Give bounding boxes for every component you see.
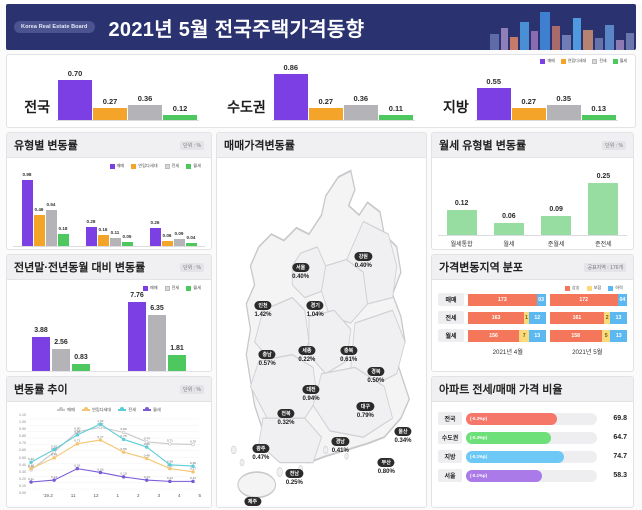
- panel-title: 가격변동지역 분포: [439, 259, 523, 275]
- map-label-jeonbuk[interactable]: 전북 0.32%: [277, 402, 294, 426]
- y-tick: 0.50: [19, 456, 26, 460]
- bar-value: 0.05: [123, 234, 132, 239]
- map-label-ulsan[interactable]: 울산 0.34%: [394, 420, 411, 444]
- line-chart: 1.10 1.00 0.90 0.80 0.70 0.60 0.50 0.40 …: [13, 415, 205, 508]
- panel-title: 매매가격변동률: [224, 137, 295, 153]
- legend-marker-jeonse: [118, 409, 126, 411]
- panel-body: 상승 보합 하락 매매 173 03: [432, 280, 633, 371]
- summary-group-metro: 수도권 0.86 0.27 0.36 0.11: [216, 63, 425, 127]
- legend-swatch-flat: [587, 286, 592, 291]
- row-label: 지방: [438, 450, 462, 463]
- bar-value: 0.13: [591, 104, 606, 113]
- map-label-busan[interactable]: 부산 0.80%: [378, 451, 395, 475]
- summary-group-local: 지방 0.55 0.27 0.35 0.13: [426, 63, 635, 127]
- legend-label: 하락: [615, 285, 623, 291]
- panel-yoy: 전년말·전년동월 대비 변동률 단위 : % 매매 전세 월세: [6, 254, 212, 372]
- segment-fall: 03: [537, 294, 546, 306]
- bar-value: 0.35: [556, 94, 571, 103]
- legend-item: 연립다세대: [131, 163, 157, 169]
- x-tick: 12: [93, 493, 98, 498]
- table-row: 전국 (-0.3%p) 69.8: [438, 412, 627, 425]
- panel-price-map: 매매가격변동률: [216, 132, 427, 508]
- bar-value: 0.55: [486, 77, 501, 86]
- svg-text:0.62: 0.62: [51, 444, 57, 448]
- svg-text:0.38: 0.38: [167, 460, 173, 464]
- panel-distribution: 가격변동지역 분포 공표지역 : 176개 상승 보합 하락: [431, 254, 634, 372]
- map-label-gangwon[interactable]: 강원 0.40%: [355, 245, 372, 269]
- region-name: 전북: [277, 409, 294, 418]
- legend-swatch-jeonse: [165, 164, 170, 169]
- y-tick: 1.10: [19, 413, 26, 417]
- bar: 7.76: [128, 302, 146, 372]
- legend-label: 월세: [620, 58, 627, 64]
- dashboard-header: Korea Real Estate Board 2021년 5월 전국주택가격동…: [6, 4, 636, 50]
- panel-body: 매매 전세 월세 3.88 2.56: [7, 280, 211, 372]
- svg-text:0.48: 0.48: [144, 453, 150, 457]
- row-label: 전세: [438, 311, 464, 324]
- region-name: 인천: [254, 301, 271, 310]
- legend-label: 보합: [594, 285, 602, 291]
- region-value: 0.79%: [357, 413, 374, 419]
- left-column: 유형별 변동률 단위 : % 매매 연립다세대 전세: [6, 132, 212, 508]
- row-label: 서울: [438, 469, 462, 482]
- summary-bar: 0.86: [274, 74, 308, 120]
- x-axis-ticks: '19.2 11 12 1 2 3 4 5: [27, 493, 205, 498]
- row-label: 수도권: [438, 431, 462, 444]
- svg-text:0.71: 0.71: [74, 439, 80, 443]
- legend-item: 하락: [608, 285, 623, 291]
- panel-ratio: 아파트 전세/매매 가격 비율 전국 (-0.3%p) 69.8 수도권: [431, 376, 634, 508]
- legend-label: 매매: [117, 163, 125, 169]
- legend-item: 상승: [565, 285, 580, 291]
- map-label-gyeongbuk[interactable]: 경북 0.50%: [367, 360, 384, 384]
- svg-text:0.70: 0.70: [190, 439, 196, 443]
- segment-rise: 161: [550, 312, 605, 324]
- legend-marker-wolse: [143, 409, 151, 411]
- summary-group-label: 지방: [443, 97, 469, 121]
- legend-item: 월세: [186, 163, 201, 169]
- ratio-value: 58.3: [601, 472, 627, 479]
- svg-text:0.78: 0.78: [121, 434, 127, 438]
- legend-item: 매매: [110, 163, 125, 169]
- ratio-fill: (-0.1%p): [466, 470, 542, 482]
- bar-value: 0.16: [99, 227, 108, 232]
- skyline-graphic: [486, 4, 636, 50]
- ratio-fill: (-0.3%p): [466, 413, 557, 425]
- legend-label: 전세: [128, 407, 136, 413]
- legend-swatch-yeonrip: [561, 59, 566, 64]
- legend-swatch-yeonrip: [131, 164, 136, 169]
- panel-title: 전년말·전년동월 대비 변동률: [14, 259, 145, 275]
- legend-swatch-rise: [565, 286, 570, 291]
- dashboard-body: 유형별 변동률 단위 : % 매매 연립다세대 전세: [6, 132, 636, 508]
- svg-text:0.32: 0.32: [28, 463, 34, 467]
- legend-label: 전세: [599, 58, 606, 64]
- summary-group-label: 수도권: [227, 97, 266, 121]
- y-tick: 0.60: [19, 448, 26, 452]
- summary-bar: 0.27: [512, 108, 546, 120]
- category-label: 아파트: [35, 249, 52, 250]
- region-value: 0.40%: [355, 263, 372, 269]
- bar: 0.11: [110, 238, 121, 246]
- segment-rise: 172: [550, 294, 618, 306]
- table-row: 수도권 (-0.4%p) 64.7: [438, 431, 627, 444]
- legend-item: 월세: [143, 407, 161, 413]
- bar: 0.09: [174, 239, 185, 246]
- legend-swatch-maemae: [110, 164, 115, 169]
- ratio-delta: (-0.4%p): [470, 435, 487, 440]
- panel-unit: 단위 : %: [602, 141, 626, 150]
- region-value: 1.42%: [254, 312, 271, 318]
- panel-header: 아파트 전세/매매 가격 비율: [432, 377, 633, 402]
- svg-text:0.12: 0.12: [190, 476, 196, 480]
- region-name: 울산: [394, 427, 411, 436]
- period-labels: 2021년 4월 2021년 5월: [438, 347, 627, 356]
- bar-value: 0.70: [68, 69, 83, 78]
- svg-text:0.32: 0.32: [74, 463, 80, 467]
- ratio-fill: (-0.4%p): [466, 432, 551, 444]
- summary-bar: 0.36: [344, 105, 378, 120]
- ratio-track: (-0.1%p): [466, 470, 597, 482]
- bar-value: 0.11: [389, 104, 403, 113]
- svg-text:0.71: 0.71: [167, 439, 173, 443]
- legend-label: 연립다세대: [568, 58, 586, 64]
- table-row: 매매 173 03 172 04: [438, 293, 627, 306]
- table-row: 월세 156 7 13 158 5 13: [438, 329, 627, 342]
- category-label: 월세: [486, 239, 532, 248]
- segment-fall: 04: [618, 294, 627, 306]
- bar-value: 0.27: [521, 97, 536, 106]
- stacked-bar-may: 161 2 13: [550, 312, 628, 324]
- legend-item: 전세: [165, 163, 180, 169]
- x-tick: '19.2: [43, 493, 53, 498]
- category-labels: 월세통합 월세 준월세 준전세: [438, 239, 627, 248]
- region-name: 경남: [332, 437, 349, 446]
- summary-bars: 0.86 0.27 0.36 0.11: [272, 75, 415, 121]
- category-label: 준월세: [533, 239, 579, 248]
- bar-set: 0.98 0.46 0.54 0.18: [22, 172, 69, 246]
- region-name: 충북: [340, 346, 357, 355]
- stacked-bar-apr: 156 7 13: [468, 330, 546, 342]
- segment-rise: 173: [468, 294, 537, 306]
- stacked-bar-apr: 163 1 12: [468, 312, 546, 324]
- legend-item: 연립다세대: [82, 407, 111, 413]
- legend-swatch-wolse: [186, 164, 191, 169]
- bar-value: 0.86: [284, 63, 299, 72]
- y-tick: 0.10: [19, 484, 26, 488]
- bar: 0.26: [150, 228, 161, 246]
- bar: 3.88: [32, 337, 50, 372]
- table-row: 지방 (-0.1%p) 74.7: [438, 450, 627, 463]
- y-tick: 0.70: [19, 441, 26, 445]
- summary-bar: 0.13: [582, 115, 616, 120]
- panel-body: 매매 연립다세대 전세 월세: [7, 158, 211, 250]
- panel-wolse-type: 월세 유형별 변동률 단위 : % 0.12 0.06 0.09 0.25: [431, 132, 634, 250]
- region-name: 광주: [252, 444, 269, 453]
- summary-bars: 0.55 0.27 0.35 0.13: [475, 75, 618, 121]
- legend-label: 연립다세대: [138, 163, 157, 169]
- x-tick: 2: [137, 493, 140, 498]
- ratio-track: (-0.3%p): [466, 413, 597, 425]
- bar-value: 0.26: [151, 220, 160, 225]
- bar-value: 0.27: [319, 97, 334, 106]
- bar-group-year-end: 3.88 2.56 0.83: [32, 337, 90, 372]
- ratio-delta: (-0.1%p): [470, 454, 487, 459]
- bar: 0.18: [58, 234, 69, 246]
- y-tick: 0.90: [19, 427, 26, 431]
- region-value: 0.61%: [340, 357, 357, 363]
- legend-label: 월세: [193, 285, 201, 291]
- panel-title: 월세 유형별 변동률: [439, 137, 526, 153]
- middle-column: 매매가격변동률: [216, 132, 427, 508]
- svg-text:0.19: 0.19: [121, 472, 127, 476]
- region-name: 경북: [367, 367, 384, 376]
- svg-text:0.14: 0.14: [144, 475, 150, 479]
- bar-value: 0.46: [35, 207, 44, 212]
- bar-group-apartment: 0.98 0.46 0.54 0.18: [22, 172, 69, 246]
- segment-fall: 13: [529, 330, 545, 342]
- panel-header: 전년말·전년동월 대비 변동률 단위 : %: [7, 255, 211, 280]
- map-label-chungbuk[interactable]: 충북 0.61%: [340, 339, 357, 363]
- bar: 6.35: [148, 315, 166, 372]
- legend-item: 전세: [592, 58, 606, 64]
- panel-header: 변동률 추이 단위 : %: [7, 377, 211, 402]
- bar: 0.05: [122, 242, 133, 246]
- bar: 0.98: [22, 180, 33, 246]
- x-tick: 5: [198, 493, 201, 498]
- summary-bar: 0.35: [547, 105, 581, 120]
- summary-bar: 0.55: [477, 88, 511, 120]
- summary-bar: 0.11: [379, 115, 413, 120]
- map-label-jeju[interactable]: 제주 0.59%: [244, 490, 261, 508]
- svg-text:0.26: 0.26: [97, 467, 103, 471]
- y-axis-ticks: 1.10 1.00 0.90 0.80 0.70 0.60 0.50 0.40 …: [13, 415, 27, 493]
- legend-label: 전세: [172, 163, 180, 169]
- bar-value: 0.25: [597, 173, 611, 180]
- legend-swatch-wolse: [613, 59, 618, 64]
- map-label-daegu[interactable]: 대구 0.79%: [357, 395, 374, 419]
- bar: 0.04: [186, 243, 197, 246]
- category-labels: 아파트 연립주택 단독주택: [13, 249, 205, 250]
- map-label-gwangju[interactable]: 광주 0.47%: [252, 437, 269, 461]
- bar-value: 1.81: [170, 345, 184, 352]
- chart-legend: 매매 전세 월세: [13, 285, 205, 291]
- category-label: 연립주택: [95, 249, 117, 250]
- legend-swatch-jeonse: [165, 286, 170, 291]
- region-value: 0.40%: [292, 274, 309, 280]
- ratio-value: 64.7: [601, 434, 627, 441]
- map-label-incheon[interactable]: 인천 1.42%: [254, 294, 271, 318]
- bar-value: 0.12: [455, 200, 469, 207]
- bar-value: 0.54: [47, 202, 56, 207]
- map-label-jeonnam[interactable]: 전남 0.25%: [286, 462, 303, 486]
- category-label: 단독주택: [161, 249, 183, 250]
- bar-value: 0.09: [549, 206, 563, 213]
- map-label-seoul[interactable]: 서울 0.40%: [292, 256, 309, 280]
- legend-label: 월세: [153, 407, 161, 413]
- y-tick: 0.30: [19, 470, 26, 474]
- ratio-track: (-0.4%p): [466, 432, 597, 444]
- bar-value: 7.76: [130, 292, 144, 299]
- segment-rise: 156: [468, 330, 519, 342]
- yoy-bar-chart: 3.88 2.56 0.83 7.76 6.35: [13, 297, 205, 372]
- panel-body: 전국 (-0.3%p) 69.8 수도권 (-0.4%p): [432, 402, 633, 507]
- legend-swatch-jeonse: [592, 59, 597, 64]
- bar: 0.06: [494, 223, 524, 235]
- bar: 2.56: [52, 349, 70, 372]
- map-label-chungnam[interactable]: 충남 0.57%: [259, 343, 276, 367]
- panel-trend: 변동률 추이 단위 : % 매매 연립다세대 전세: [6, 376, 212, 508]
- org-badge: Korea Real Estate Board: [14, 21, 95, 33]
- map-label-sejong[interactable]: 세종 0.22%: [298, 339, 315, 363]
- legend-item: 전세: [165, 285, 180, 291]
- segment-fall: 13: [610, 312, 627, 324]
- y-tick: 0.40: [19, 463, 26, 467]
- legend-item: 매매: [143, 285, 158, 291]
- panel-title: 아파트 전세/매매 가격 비율: [439, 381, 563, 397]
- chart-legend: 상승 보합 하락: [438, 285, 627, 291]
- summary-bar: 0.12: [163, 115, 197, 120]
- legend-item: 전세: [118, 407, 136, 413]
- legend-swatch-maemae: [143, 286, 148, 291]
- panel-title: 유형별 변동률: [14, 137, 78, 153]
- panel-header: 월세 유형별 변동률 단위 : %: [432, 133, 633, 158]
- legend-label: 매매: [150, 285, 158, 291]
- bar: 0.83: [72, 364, 90, 372]
- legend-label: 매매: [67, 407, 75, 413]
- summary-group-nationwide: 전국 0.70 0.27 0.36 0.12: [7, 63, 216, 127]
- ratio-fill: (-0.1%p): [466, 451, 564, 463]
- legend-label: 월세: [193, 163, 201, 169]
- bar-value: 0.12: [173, 104, 188, 113]
- bar-value: 0.36: [138, 94, 153, 103]
- trend-plot: 0.300.580.900.970.890.740.710.700.320.49…: [27, 415, 199, 493]
- bar-value: 2.56: [54, 339, 68, 346]
- panel-header: 유형별 변동률 단위 : %: [7, 133, 211, 158]
- panel-header: 매매가격변동률: [217, 133, 426, 158]
- region-name: 서울: [292, 263, 309, 272]
- svg-text:0.58: 0.58: [121, 447, 127, 451]
- panel-type-change: 유형별 변동률 단위 : % 매매 연립다세대 전세: [6, 132, 212, 250]
- bar: 0.54: [46, 210, 57, 246]
- map-label-gyeongnam[interactable]: 경남 0.41%: [332, 430, 349, 454]
- panel-unit: 공표지역 : 176개: [584, 263, 626, 272]
- y-tick: 0.80: [19, 434, 26, 438]
- panel-body: 서울 0.40% 강원 0.40% 인천 1.42% 경기 1.04%: [217, 158, 426, 507]
- panel-header: 가격변동지역 분포 공표지역 : 176개: [432, 255, 633, 280]
- ratio-value: 74.7: [601, 453, 627, 460]
- bar-value: 0.18: [59, 226, 68, 231]
- summary-bar: 0.36: [128, 105, 162, 120]
- bar-group-year-same-month: 7.76 6.35 1.81: [128, 302, 186, 372]
- period-label: 2021년 5월: [548, 347, 628, 356]
- legend-marker-maemae: [57, 409, 65, 411]
- right-column: 월세 유형별 변동률 단위 : % 0.12 0.06 0.09 0.25: [431, 132, 634, 508]
- summary-bar: 0.70: [58, 80, 92, 120]
- bar: 0.16: [98, 235, 109, 246]
- svg-text:0.42: 0.42: [28, 457, 34, 461]
- category-label: 월세통합: [439, 239, 485, 248]
- period-label: 2021년 4월: [468, 347, 548, 356]
- row-label: 전국: [438, 412, 462, 425]
- bar: 0.09: [541, 216, 571, 235]
- segment-rise: 163: [468, 312, 524, 324]
- panel-body: 0.12 0.06 0.09 0.25 월세통합 월세 준월세 준전세: [432, 158, 633, 250]
- distribution-rows: 매매 173 03 172 04 전세: [438, 293, 627, 342]
- region-name: 대구: [357, 402, 374, 411]
- summary-legend: 매매 연립다세대 전세 월세: [540, 58, 627, 64]
- bar: 0.46: [34, 215, 45, 246]
- summary-group-label: 전국: [24, 97, 50, 121]
- svg-text:0.89: 0.89: [121, 427, 127, 431]
- region-name: 전남: [286, 469, 303, 478]
- segment-fall: 13: [610, 330, 627, 342]
- legend-swatch-wolse: [186, 286, 191, 291]
- segment-flat: 5: [602, 330, 611, 342]
- segment-rise: 158: [550, 330, 602, 342]
- region-value: 0.57%: [259, 361, 276, 367]
- region-name: 제주: [244, 497, 261, 506]
- bar-value: 0.11: [111, 230, 120, 235]
- ratio-delta: (-0.3%p): [470, 416, 487, 421]
- y-tick: 1.00: [19, 420, 26, 424]
- region-value: 0.41%: [332, 448, 349, 454]
- row-label: 월세: [438, 329, 464, 342]
- grouped-bar-chart: 0.98 0.46 0.54 0.18: [13, 173, 205, 247]
- region-value: 0.32%: [277, 420, 294, 426]
- table-row: 서울 (-0.1%p) 58.3: [438, 469, 627, 482]
- legend-swatch-fall: [608, 286, 613, 291]
- bar: 0.06: [162, 241, 173, 246]
- panel-body: 매매 연립다세대 전세 월세 1.10: [7, 402, 211, 508]
- map-label-gyeonggi[interactable]: 경기 1.04%: [307, 294, 324, 318]
- svg-text:0.14: 0.14: [51, 475, 57, 479]
- ratio-delta: (-0.1%p): [470, 473, 487, 478]
- bar-value: 0.09: [175, 231, 184, 236]
- summary-bar: 0.27: [93, 108, 127, 120]
- bar: 0.25: [588, 183, 618, 235]
- category-label: 준전세: [580, 239, 626, 248]
- ratio-value: 69.8: [601, 415, 627, 422]
- stacked-bar-may: 158 5 13: [550, 330, 628, 342]
- row-label: 매매: [438, 293, 464, 306]
- bar-group-rowhouse: 0.28 0.16 0.11 0.05: [86, 172, 133, 246]
- page-title: 2021년 5월 전국주택가격동향: [109, 13, 365, 42]
- bar-value: 0.04: [187, 235, 196, 240]
- bar-value: 0.98: [23, 172, 32, 177]
- legend-label: 전세: [172, 285, 180, 291]
- legend-item: 매매: [540, 58, 554, 64]
- svg-text:0.66: 0.66: [144, 442, 150, 446]
- bar-value: 0.83: [74, 354, 88, 361]
- summary-bar: 0.27: [309, 108, 343, 120]
- bar-value: 0.27: [103, 97, 118, 106]
- bar-value: 6.35: [150, 305, 164, 312]
- svg-text:0.36: 0.36: [190, 461, 196, 465]
- map-label-daejeon[interactable]: 대전 0.94%: [302, 378, 319, 402]
- legend-item: 월세: [186, 285, 201, 291]
- legend-marker-yeonrip: [82, 409, 90, 411]
- bar-group-detached: 0.26 0.06 0.09 0.04: [150, 172, 197, 246]
- region-name: 충남: [259, 350, 276, 359]
- bar-value: 0.36: [354, 94, 369, 103]
- region-value: 0.34%: [394, 438, 411, 444]
- bar: 0.12: [447, 210, 477, 235]
- region-value: 0.22%: [298, 357, 315, 363]
- region-name: 대전: [302, 385, 319, 394]
- segment-flat: 7: [519, 330, 529, 342]
- region-value: 0.94%: [302, 396, 319, 402]
